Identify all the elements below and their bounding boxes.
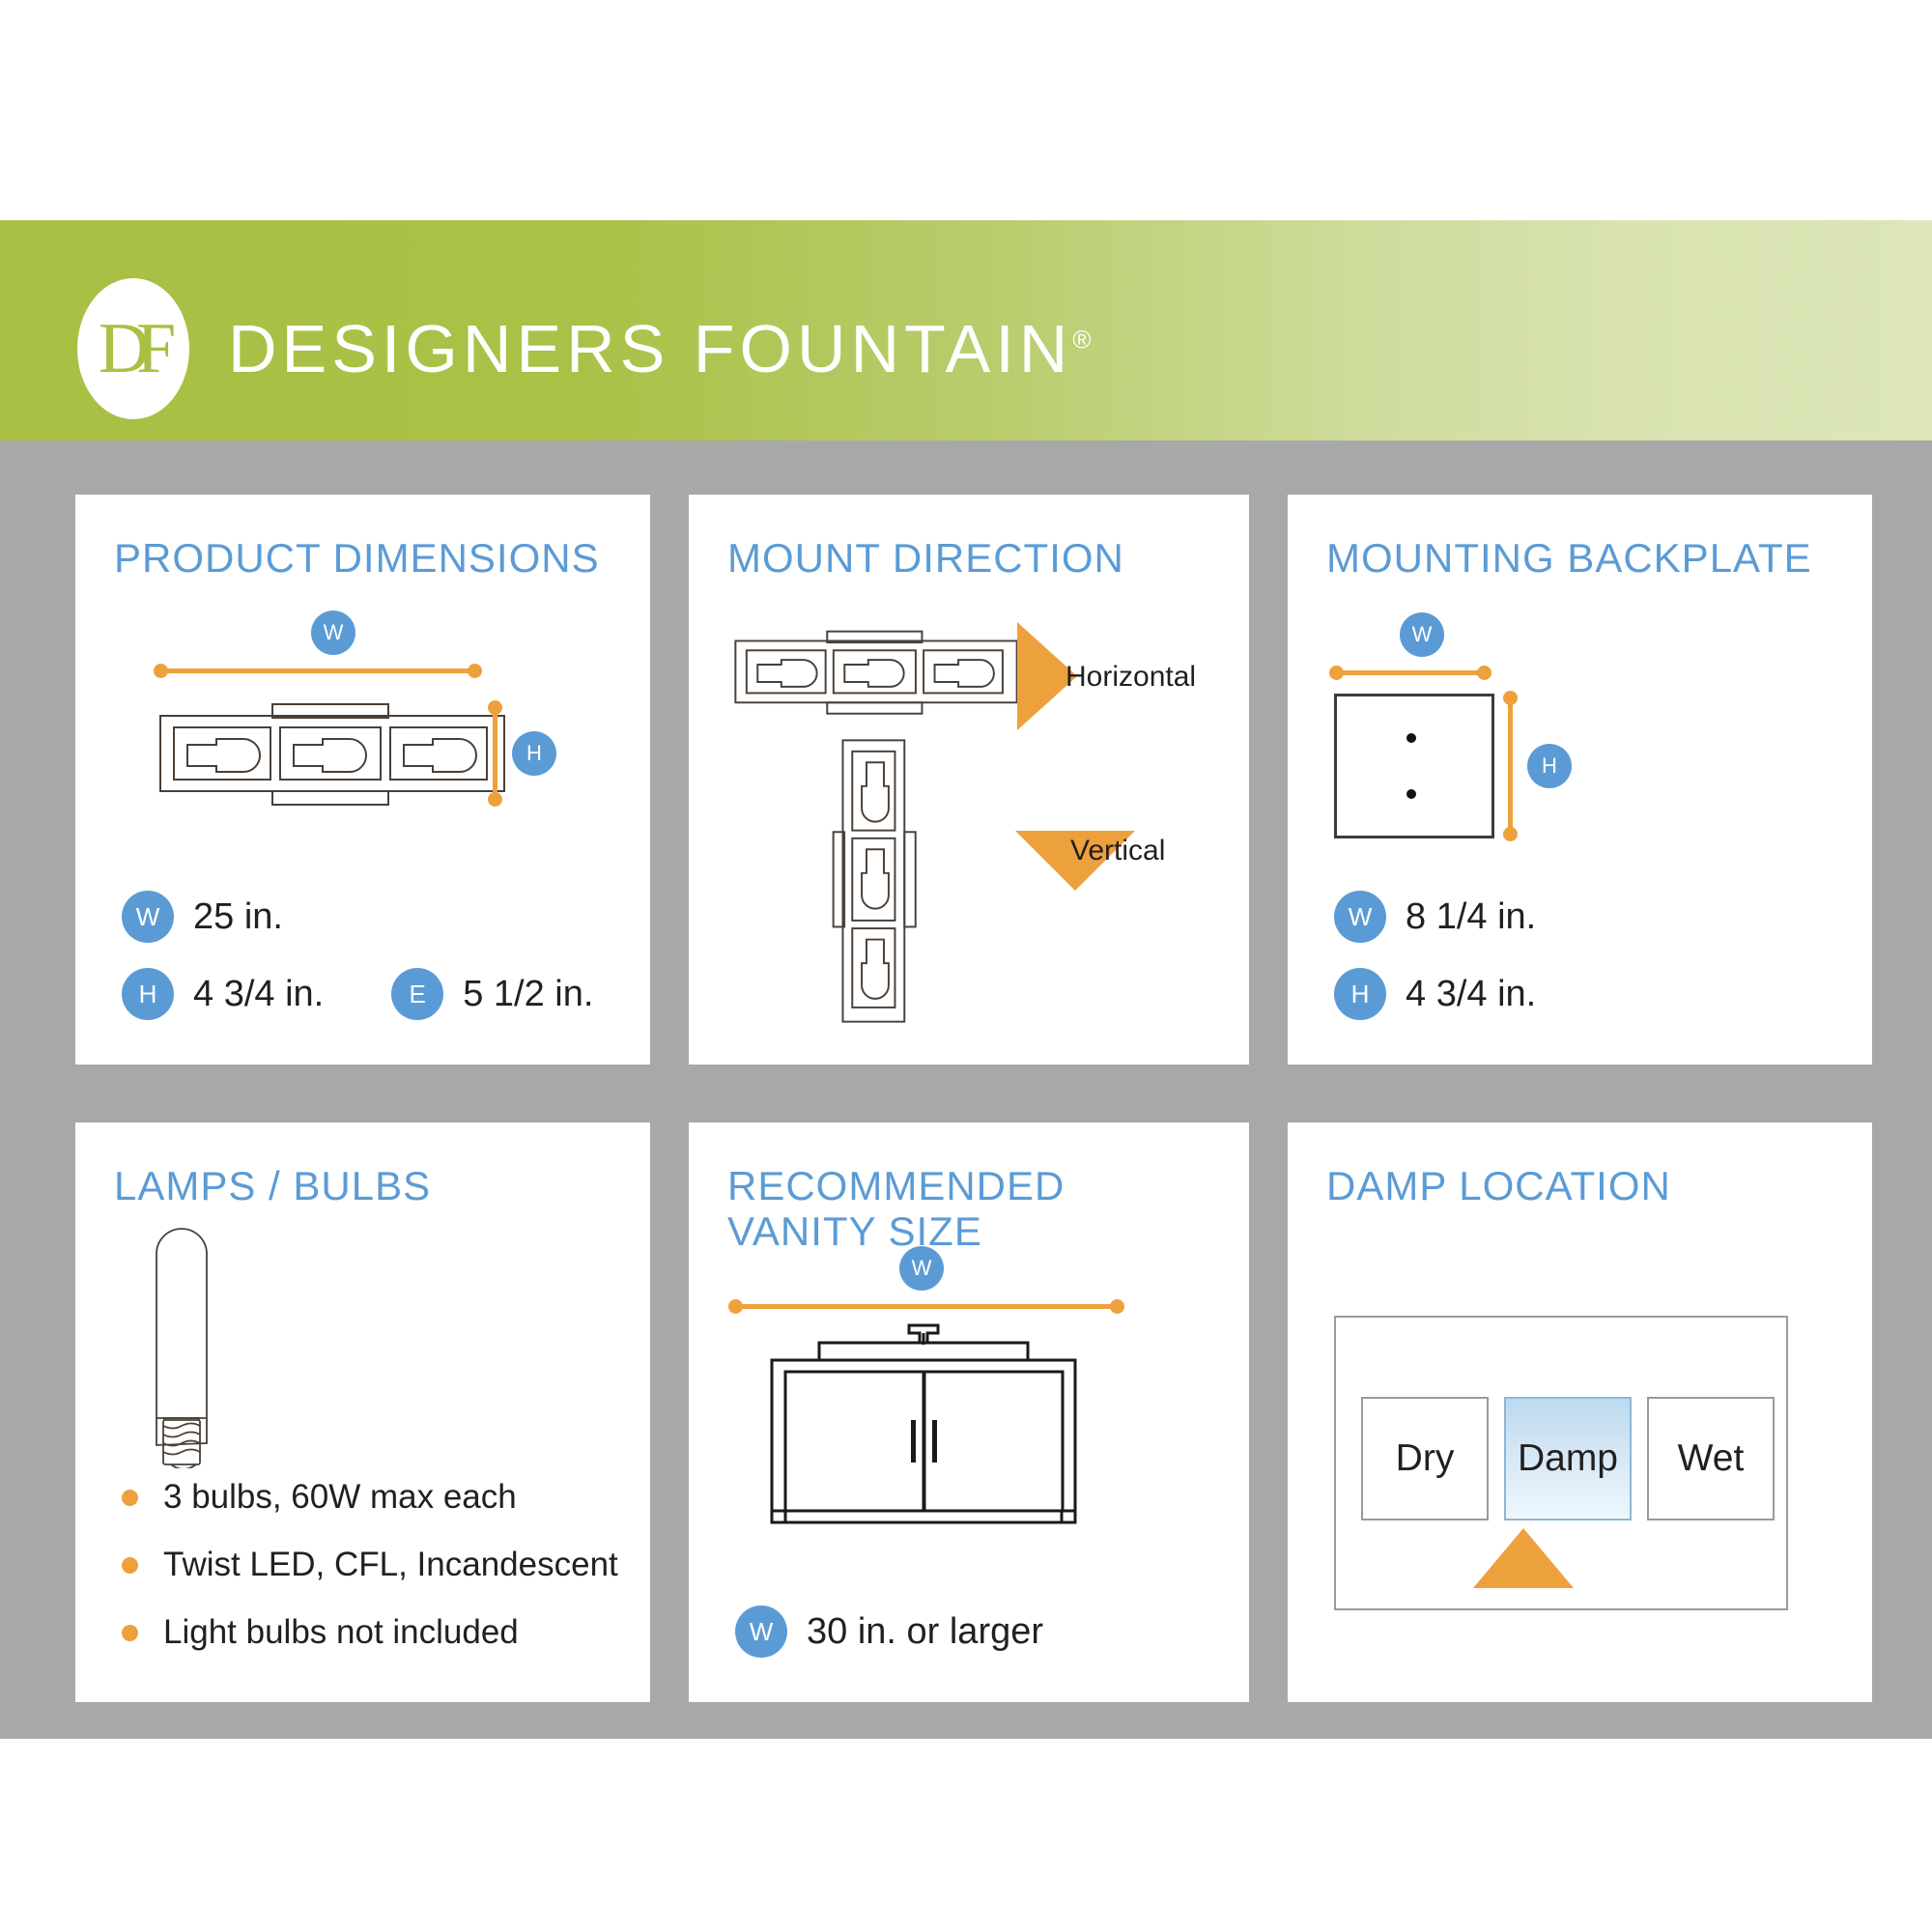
fixture-horizontal-mount-drawing — [731, 630, 1021, 717]
rating-box-wet: Wet — [1647, 1397, 1775, 1520]
bullet-item: Light bulbs not included — [122, 1613, 618, 1652]
bullet-text: Light bulbs not included — [163, 1613, 519, 1652]
screw-hole-icon — [1406, 733, 1416, 743]
designers-fountain-logo-icon: DF — [77, 278, 189, 419]
card-recommended-vanity-size: RECOMMENDED VANITY SIZE W — [689, 1122, 1249, 1702]
card-title-mount-direction: MOUNT DIRECTION — [727, 535, 1210, 581]
vanity-dimension-line-width — [733, 1304, 1120, 1309]
vanity-cabinet-drawing — [764, 1323, 1083, 1546]
spec-badge-w: W — [122, 891, 174, 943]
rating-box-damp: Damp — [1504, 1397, 1632, 1520]
spec-row-extension: E 5 1/2 in. — [391, 968, 593, 1020]
card-title-recommended-vanity-size: RECOMMENDED VANITY SIZE — [727, 1163, 1210, 1254]
damp-selected-arrow-icon — [1473, 1528, 1574, 1588]
spec-row-height-extension: H 4 3/4 in. E 5 1/2 in. — [122, 968, 593, 1020]
bullet-text: 3 bulbs, 60W max each — [163, 1478, 517, 1517]
fixture-vertical-mount-drawing — [832, 736, 919, 1026]
bullet-dot-icon — [122, 1557, 138, 1574]
vanity-dimension-badge-width: W — [899, 1246, 944, 1291]
dimension-badge-height: H — [512, 731, 556, 776]
spec-badge-e: E — [391, 968, 443, 1020]
spec-value-e: 5 1/2 in. — [463, 974, 593, 1015]
backplate-dimension-badge-height: H — [1527, 744, 1572, 788]
backplate-dimension-line-height — [1508, 696, 1513, 837]
spec-value-backplate-h: 4 3/4 in. — [1406, 974, 1536, 1015]
rating-box-dry: Dry — [1361, 1397, 1489, 1520]
registered-trademark-icon: ® — [1072, 326, 1091, 355]
spec-value-vanity-w: 30 in. or larger — [807, 1611, 1043, 1653]
bullet-text: Twist LED, CFL, Incandescent — [163, 1546, 618, 1584]
spec-row-width: W 25 in. — [122, 891, 593, 943]
cabinet-handle-icon — [932, 1420, 937, 1463]
logo-monogram: DF — [77, 278, 189, 419]
backplate-dimension-line-width — [1334, 670, 1487, 675]
spec-badge-backplate-w: W — [1334, 891, 1386, 943]
spec-value-backplate-w: 8 1/4 in. — [1406, 896, 1536, 938]
cabinet-handle-icon — [911, 1420, 916, 1463]
spec-list-mounting-backplate: W 8 1/4 in. H 4 3/4 in. — [1334, 866, 1536, 1020]
spec-value-h: 4 3/4 in. — [193, 974, 324, 1015]
damp-rating-boxes: Dry Damp Wet — [1361, 1397, 1775, 1520]
backplate-drawing — [1334, 694, 1504, 838]
dimension-badge-width: W — [311, 611, 355, 655]
spec-row-vanity-width: W 30 in. or larger — [735, 1605, 1043, 1658]
dimension-line-height — [493, 705, 497, 802]
card-title-lamps-bulbs: LAMPS / BULBS — [114, 1163, 611, 1208]
damp-rating-frame: Dry Damp Wet — [1334, 1316, 1788, 1610]
screw-hole-icon — [1406, 789, 1416, 799]
card-product-dimensions: PRODUCT DIMENSIONS W — [75, 495, 650, 1065]
bullet-list-lamps-bulbs: 3 bulbs, 60W max each Twist LED, CFL, In… — [122, 1449, 618, 1652]
card-title-damp-location: DAMP LOCATION — [1326, 1163, 1833, 1208]
spec-list-recommended-vanity-size: W 30 in. or larger — [735, 1580, 1043, 1658]
vertical-label: Vertical — [1070, 835, 1165, 867]
card-mounting-backplate: MOUNTING BACKPLATE W H W 8 1/4 in. H 4 3… — [1288, 495, 1872, 1065]
spec-sheet-page: DF DESIGNERS FOUNTAIN® PRODUCT DIMENSION… — [0, 0, 1932, 1932]
bulb-icon — [131, 1227, 238, 1468]
spec-badge-vanity-w: W — [735, 1605, 787, 1658]
card-title-mounting-backplate: MOUNTING BACKPLATE — [1326, 535, 1833, 581]
brand-lockup: DF DESIGNERS FOUNTAIN® — [77, 278, 1092, 419]
card-damp-location: DAMP LOCATION Dry Damp Wet — [1288, 1122, 1872, 1702]
brand-name-text: DESIGNERS FOUNTAIN — [228, 311, 1072, 386]
dimension-line-width — [158, 668, 477, 673]
fixture-horizontal-drawing — [158, 702, 506, 809]
card-lamps-bulbs: LAMPS / BULBS 3 bulbs, — [75, 1122, 650, 1702]
bullet-item: 3 bulbs, 60W max each — [122, 1478, 618, 1517]
card-title-product-dimensions: PRODUCT DIMENSIONS — [114, 535, 611, 581]
spec-badge-backplate-h: H — [1334, 968, 1386, 1020]
spec-row-backplate-width: W 8 1/4 in. — [1334, 891, 1536, 943]
spec-row-backplate-height: H 4 3/4 in. — [1334, 968, 1536, 1020]
spec-badge-h: H — [122, 968, 174, 1020]
spec-value-w: 25 in. — [193, 896, 283, 938]
horizontal-label: Horizontal — [1065, 661, 1196, 694]
backplate-dimension-badge-width: W — [1400, 612, 1444, 657]
brand-name: DESIGNERS FOUNTAIN® — [228, 310, 1092, 387]
bullet-item: Twist LED, CFL, Incandescent — [122, 1546, 618, 1584]
bullet-dot-icon — [122, 1625, 138, 1641]
card-mount-direction: MOUNT DIRECTION — [689, 495, 1249, 1065]
bullet-dot-icon — [122, 1490, 138, 1506]
spec-card-grid: PRODUCT DIMENSIONS W — [75, 495, 1862, 1702]
spec-list-product-dimensions: W 25 in. H 4 3/4 in. E 5 1/2 in. — [122, 866, 593, 1020]
